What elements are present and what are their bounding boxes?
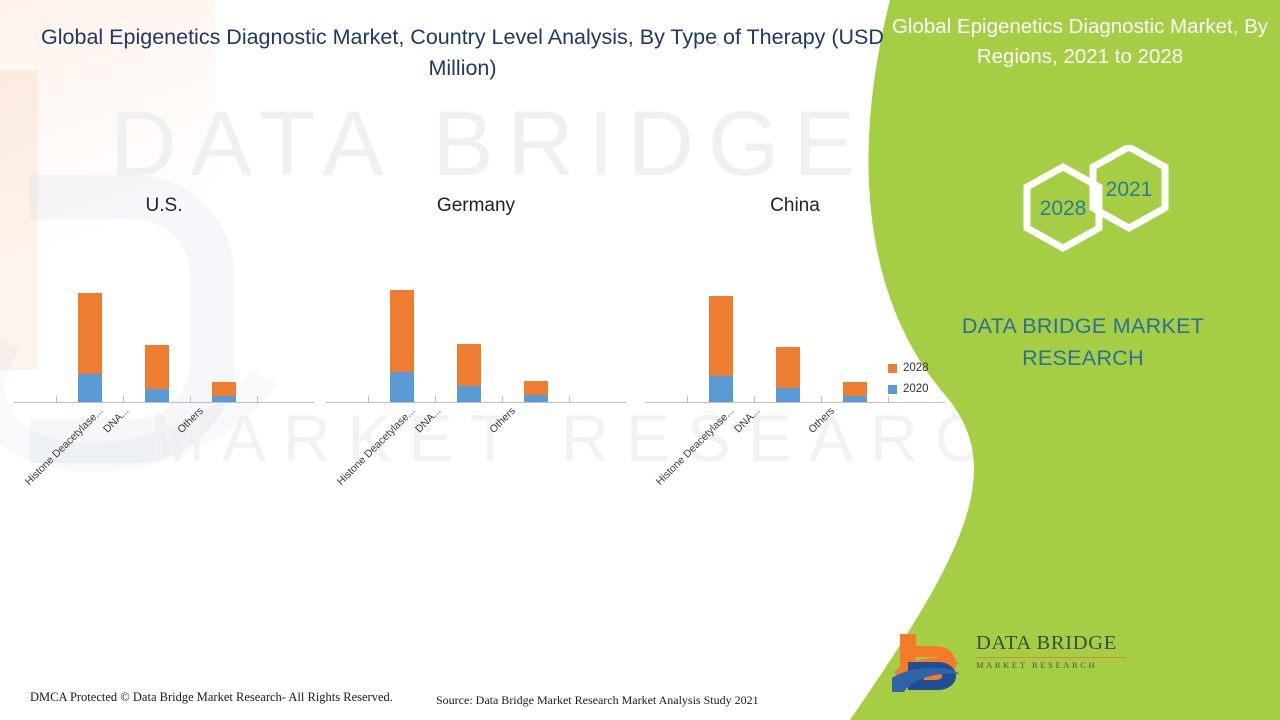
bar-germany-2 [524,381,548,402]
bar-china-1 [776,347,800,402]
axis-tick [190,396,191,403]
x-axis-line-us [14,402,314,403]
bar-segment-2028 [78,293,102,374]
chart-panel-germany: Germany Histone Deacetylase... DNA... [326,195,626,495]
bar-segment-2028 [709,296,733,376]
logo-tagline: MARKET RESEARCH [976,660,1126,670]
bar-segment-2028 [212,382,236,396]
chart-title-china: China [645,195,945,217]
page-title: Global Epigenetics Diagnostic Market, Co… [40,22,885,83]
bar-segment-2028 [843,382,867,396]
category-label-germany-2: Others [487,405,518,436]
bar-segment-2020 [776,388,800,402]
logo-divider [976,657,1126,658]
axis-tick [368,396,369,403]
axis-tick [821,396,822,403]
bar-segment-2020 [457,386,481,402]
logo-mark-icon [890,628,968,692]
footer: DMCA Protected © Data Bridge Market Rese… [0,680,866,720]
axis-tick [502,396,503,403]
axis-tick [257,396,258,403]
category-label-us-0: Histone Deacetylase... [23,405,106,488]
category-labels-us: Histone Deacetylase... DNA... Others [14,405,314,495]
category-label-china-0: Histone Deacetylase... [654,405,737,488]
bar-segment-2028 [457,344,481,386]
logo-name: DATA BRIDGE [976,632,1126,655]
side-panel-title: Global Epigenetics Diagnostic Market, By… [880,12,1280,71]
category-label-us-2: Others [175,405,206,436]
chart-panel-us: U.S. Histone Deacetylase... DNA... O [14,195,314,495]
logo-text-block: DATA BRIDGE MARKET RESEARCH [976,632,1126,670]
axis-tick [123,396,124,403]
category-label-china-2: Others [806,405,837,436]
bar-segment-2020 [709,376,733,402]
legend-label-2020: 2020 [903,383,929,395]
bar-china-2 [843,382,867,402]
category-labels-china: Histone Deacetylase... DNA... Others [645,405,945,495]
category-label-us-1: DNA... [101,405,131,435]
category-label-china-1: DNA... [732,405,762,435]
bar-segment-2028 [776,347,800,388]
legend-swatch-2020 [888,385,897,394]
infographic-page: DATA BRIDGE MARKET RESEARCH Global Epige… [0,0,1280,720]
company-logo: DATA BRIDGE MARKET RESEARCH [890,628,1120,694]
bar-segment-2020 [524,395,548,402]
category-label-germany-1: DNA... [413,405,443,435]
legend-item-2020: 2020 [888,383,929,395]
legend-swatch-2028 [888,364,897,373]
chart-panel-china: China Histone Deacetylase... DNA... [645,195,945,495]
bar-segment-2028 [390,290,414,372]
bar-segment-2020 [78,374,102,402]
hexagon-label-2028: 2028 [1040,197,1087,220]
bar-germany-0 [390,290,414,402]
plot-area-germany [326,223,626,403]
bar-germany-1 [457,344,481,402]
plot-area-us [14,223,314,403]
axis-tick [569,396,570,403]
axis-tick [435,396,436,403]
hexagon-label-2021: 2021 [1106,178,1153,201]
category-label-germany-0: Histone Deacetylase... [335,405,418,488]
bar-segment-2028 [524,381,548,395]
x-axis-line-germany [326,402,626,403]
footer-copyright: DMCA Protected © Data Bridge Market Rese… [30,690,393,705]
bar-segment-2020 [390,372,414,402]
footer-source: Source: Data Bridge Market Research Mark… [436,693,759,708]
bar-us-0 [78,293,102,402]
side-panel-brand: DATA BRIDGE MARKET RESEARCH [918,310,1248,375]
bar-segment-2028 [145,345,169,389]
bar-us-1 [145,345,169,402]
axis-tick [687,396,688,403]
bar-us-2 [212,382,236,402]
axis-tick [56,396,57,403]
bar-china-0 [709,296,733,402]
bar-segment-2020 [145,389,169,402]
hexagon-group: 2028 2021 [985,145,1185,280]
chart-title-us: U.S. [14,195,314,217]
chart-title-germany: Germany [326,195,626,217]
axis-tick [754,396,755,403]
category-labels-germany: Histone Deacetylase... DNA... Others [326,405,626,495]
